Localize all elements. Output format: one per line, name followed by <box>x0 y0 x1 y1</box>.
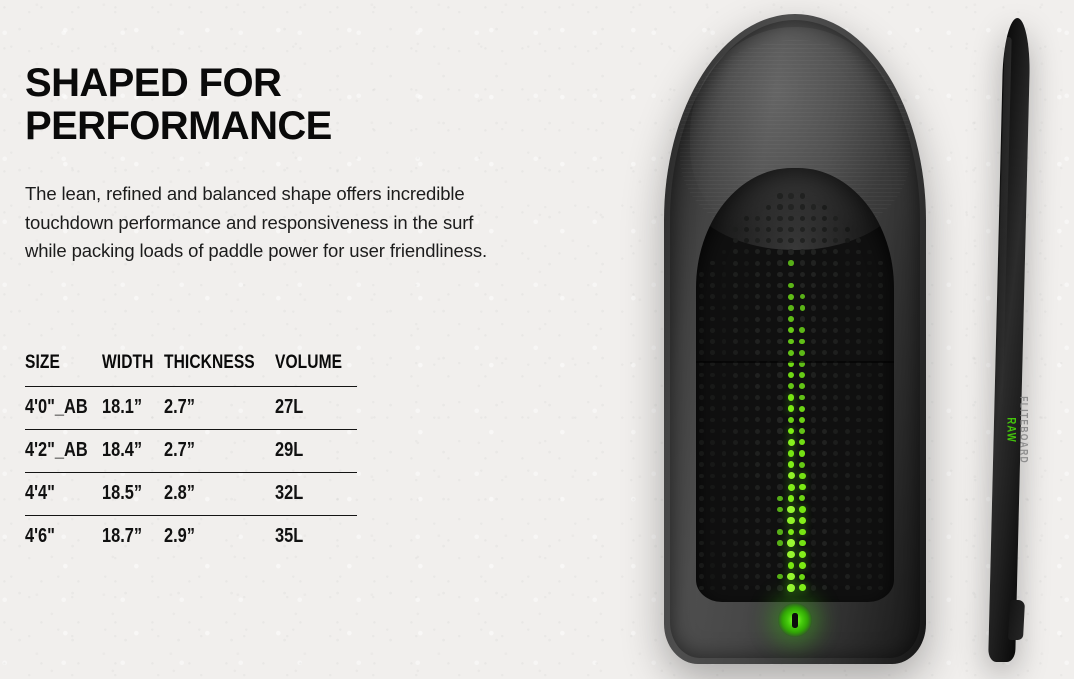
deck-pad-dot <box>799 327 805 333</box>
deck-pad-dot <box>733 305 738 310</box>
deck-pad-dot <box>788 350 794 356</box>
spec-table-element: SIZE WIDTH THICKNESS VOLUME 4'0"_AB 18.1… <box>25 352 357 558</box>
deck-pad-dot <box>777 283 782 288</box>
deck-pad-dot <box>744 496 749 501</box>
deck-pad-dot <box>710 507 715 512</box>
page-title-line-1: SHAPED FOR <box>25 62 495 105</box>
cell-volume: 27L <box>275 387 342 430</box>
table-row: 4'6" 18.7” 2.9” 35L <box>25 516 357 559</box>
deck-pad-dot <box>722 552 727 557</box>
spec-table-header-row: SIZE WIDTH THICKNESS VOLUME <box>25 352 357 387</box>
deck-pad-dot <box>733 529 738 534</box>
deck-pad-dot <box>799 540 805 546</box>
deck-pad-dot <box>733 384 738 389</box>
deck-pad-dot <box>755 563 760 568</box>
deck-pad-dot <box>867 328 872 333</box>
deck-pad-dot <box>699 395 703 399</box>
deck-pad-dot <box>856 238 861 243</box>
deck-pad-dot <box>845 305 850 310</box>
deck-pad-dot <box>722 384 727 389</box>
deck-pad-dot <box>799 428 805 434</box>
deck-pad-dot <box>733 395 738 400</box>
deck-pad-dot <box>800 272 805 277</box>
deck-pad-dot <box>699 474 703 478</box>
deck-pad-dot <box>845 238 850 243</box>
deck-pad-dot <box>833 574 838 579</box>
deck-pad-dot <box>800 260 805 265</box>
deck-pad-dot <box>699 373 703 377</box>
deck-pad-dot <box>833 552 838 557</box>
deck-pad-dot <box>722 451 727 456</box>
deck-pad-dot <box>766 563 771 568</box>
deck-pad-dot <box>833 305 838 310</box>
deck-pad-dot <box>878 328 883 333</box>
deck-pad-dot <box>822 261 827 266</box>
deck-pad-dot <box>722 518 727 523</box>
deck-pad-dot <box>710 317 715 322</box>
deck-pad-dot <box>710 530 715 535</box>
deck-pad-dot <box>845 451 850 456</box>
deck-pad-dot <box>722 395 727 400</box>
deck-pad-dot <box>788 428 795 435</box>
deck-pad-dot <box>755 552 760 557</box>
deck-pad-dot <box>822 283 827 288</box>
deck-pad-dot <box>822 496 827 501</box>
deck-pad-dot <box>699 574 703 578</box>
deck-pad-dot <box>744 261 749 266</box>
deck-pad-dot <box>833 507 838 512</box>
deck-pad-dot <box>710 306 715 311</box>
tail-indicator-light <box>778 603 812 637</box>
deck-pad-dot <box>744 552 749 557</box>
deck-pad-dot <box>777 305 782 310</box>
deck-pad-dot <box>845 563 850 568</box>
column-header-size: SIZE <box>25 352 88 387</box>
deck-pad-dot <box>845 406 850 411</box>
deck-pad-dot <box>787 517 794 524</box>
deck-pad-dot <box>699 306 703 310</box>
deck-pad-dot <box>744 350 749 355</box>
deck-pad-dot <box>766 473 771 478</box>
deck-pad-dot <box>699 530 703 534</box>
cell-size: 4'6" <box>25 516 88 559</box>
deck-pad-dot <box>856 384 861 389</box>
deck-pad-dot <box>733 429 738 434</box>
deck-pad-dot <box>766 350 771 355</box>
deck-pad-dot <box>822 238 827 243</box>
deck-pad-dot <box>878 272 883 277</box>
deck-pad-dot <box>878 406 883 411</box>
deck-pad-dot <box>845 541 850 546</box>
deck-pad-dot <box>766 406 771 411</box>
deck-pad-dot <box>777 294 782 299</box>
deck-pad-dot <box>744 541 749 546</box>
deck-pad-dot <box>788 529 795 536</box>
deck-pad-dot <box>699 317 703 321</box>
board-side-fin <box>1008 600 1025 640</box>
deck-pad-dot <box>766 216 771 221</box>
deck-pad-dot <box>777 529 782 534</box>
deck-pad-dot <box>755 294 760 299</box>
deck-pad-dot <box>833 361 838 366</box>
deck-pad-dot <box>833 238 838 243</box>
deck-pad-dot <box>766 205 771 210</box>
deck-pad-dot <box>867 339 872 344</box>
deck-pad-dot <box>822 350 827 355</box>
deck-pad-dot <box>833 261 838 266</box>
deck-pad-dot <box>788 294 794 300</box>
deck-pad-dot <box>788 260 793 265</box>
deck-pad-dot <box>800 204 805 209</box>
deck-pad-dot <box>845 585 850 590</box>
deck-pad-dot <box>822 518 827 523</box>
deck-pad-dot <box>744 339 749 344</box>
deck-pad-dot <box>699 518 703 522</box>
deck-pad-dot <box>845 384 850 389</box>
deck-pad-dot <box>833 440 838 445</box>
deck-pad-dot <box>788 249 793 254</box>
deck-pad-dot <box>744 440 749 445</box>
column-header-volume: VOLUME <box>275 352 342 387</box>
deck-pad-dot <box>856 429 861 434</box>
deck-pad-dot <box>722 485 727 490</box>
cell-width: 18.7” <box>102 516 153 559</box>
deck-pad-dot <box>856 350 861 355</box>
deck-pad-dot <box>878 317 883 322</box>
deck-pad-dot <box>755 440 760 445</box>
deck-pad-dot <box>722 440 727 445</box>
deck-pad-dot <box>878 350 883 355</box>
deck-pad-dot <box>845 574 850 579</box>
deck-pad-dot <box>856 328 861 333</box>
deck-pad-dot <box>811 563 816 568</box>
page-title-line-2: PERFORMANCE <box>25 105 495 148</box>
deck-pad-dot <box>822 574 827 579</box>
deck-pad-dot <box>878 339 883 344</box>
deck-pad-dot <box>822 249 827 254</box>
deck-pad-dot <box>867 317 872 322</box>
deck-pad-dot <box>788 439 795 446</box>
deck-pad-dot <box>867 261 872 266</box>
deck-pad-dot <box>766 305 771 310</box>
deck-pad-dot <box>755 305 760 310</box>
deck-pad-dot <box>777 216 782 221</box>
deck-pad-dot <box>833 272 838 277</box>
deck-pad-dot <box>856 541 861 546</box>
deck-pad-dot <box>822 462 827 467</box>
deck-pad-dot <box>811 305 816 310</box>
deck-pad-dot <box>811 361 816 366</box>
deck-pad-dot <box>733 339 738 344</box>
deck-pad-dot <box>867 462 872 467</box>
deck-pad-dot <box>744 485 749 490</box>
deck-pad-dot <box>699 541 703 545</box>
deck-pad-dot <box>833 294 838 299</box>
deck-pad-dot <box>867 418 872 423</box>
deck-pad-dot <box>822 440 827 445</box>
deck-pad-dot <box>799 395 805 401</box>
board-side-outline <box>988 18 1031 662</box>
deck-pad-dot <box>788 339 794 345</box>
deck-pad-dot <box>755 249 760 254</box>
deck-pad-dot <box>766 440 771 445</box>
deck-pad-dot <box>799 495 805 501</box>
deck-pad-dot <box>766 541 771 546</box>
deck-pad-dot <box>722 563 727 568</box>
deck-pad-dot <box>766 552 771 557</box>
deck-pad-dot <box>755 473 760 478</box>
deck-pad-dot <box>755 283 760 288</box>
deck-pad-dot <box>710 373 715 378</box>
deck-pad-dot <box>733 249 738 254</box>
cell-thickness: 2.7” <box>164 387 255 430</box>
deck-pad-dot <box>799 361 805 367</box>
deck-pad-dot <box>867 250 872 255</box>
deck-pad-dot <box>766 361 771 366</box>
deck-pad-dot <box>799 350 805 356</box>
deck-pad-dot <box>710 586 715 591</box>
deck-pad-dot <box>833 485 838 490</box>
deck-pad-dot <box>733 451 738 456</box>
deck-pad-dot <box>867 474 872 479</box>
deck-pad-dot <box>811 328 816 333</box>
deck-pad-dot <box>777 204 782 209</box>
deck-pad-dot <box>744 328 749 333</box>
deck-pad-dot <box>699 362 703 366</box>
deck-pad-dot <box>811 339 816 344</box>
board-side-view-image: FLITEBOARD RAW <box>988 18 1032 662</box>
deck-pad-dot <box>733 294 738 299</box>
deck-pad-dot <box>867 496 872 501</box>
deck-pad-dot <box>822 373 827 378</box>
deck-pad-dot <box>699 406 703 410</box>
deck-pad-dot <box>755 395 760 400</box>
deck-pad-dot <box>699 328 703 332</box>
deck-pad-dot <box>755 373 760 378</box>
deck-pad-dot <box>722 328 727 333</box>
deck-pad-dot <box>867 563 872 568</box>
deck-pad-dot <box>800 305 806 311</box>
deck-pad-dot <box>733 227 738 232</box>
deck-pad-dot <box>799 406 805 412</box>
deck-pad-dot <box>822 541 827 546</box>
deck-pad-dot <box>822 417 827 422</box>
deck-pad-dot <box>755 485 760 490</box>
deck-pad-dot <box>867 384 872 389</box>
cell-volume: 35L <box>275 516 342 559</box>
deck-pad-dot <box>800 238 805 243</box>
deck-pad-dot <box>777 428 782 433</box>
deck-pad-dot <box>811 216 816 221</box>
deck-pad-dot <box>744 585 749 590</box>
deck-pad-dot <box>744 563 749 568</box>
deck-pad-dot <box>755 339 760 344</box>
deck-pad-dot <box>822 227 827 232</box>
deck-pad-dot <box>733 361 738 366</box>
deck-pad-dot <box>822 317 827 322</box>
deck-pad-dot <box>856 507 861 512</box>
deck-pad-dot <box>799 562 806 569</box>
deck-pad-dot <box>833 417 838 422</box>
deck-pad-dot <box>822 563 827 568</box>
deck-pad-dot <box>856 317 861 322</box>
deck-pad-dot <box>787 551 794 558</box>
deck-pad-dot <box>878 507 883 512</box>
deck-pad-dot <box>856 474 861 479</box>
deck-pad-dot <box>833 406 838 411</box>
deck-pad-dot <box>856 373 861 378</box>
deck-pad-dot <box>867 440 872 445</box>
deck-pad-dot <box>811 462 816 467</box>
deck-pad-dot <box>822 507 827 512</box>
deck-pad-dot <box>822 339 827 344</box>
deck-pad-dot <box>777 339 782 344</box>
deck-pad-dot <box>788 405 795 412</box>
deck-pad-dot <box>867 283 872 288</box>
deck-pad-dot <box>722 586 727 591</box>
deck-pad-dot <box>733 585 738 590</box>
deck-pad-dot <box>788 272 793 277</box>
deck-pad-dot <box>766 485 771 490</box>
deck-pad-dot <box>811 552 816 557</box>
deck-pad-dot <box>722 574 727 579</box>
deck-pad-dot <box>699 552 703 556</box>
deck-pad-dot <box>722 306 727 311</box>
deck-pad-dot <box>845 552 850 557</box>
deck-pad-dot <box>710 496 715 501</box>
deck-pad-dot <box>867 373 872 378</box>
deck-pad-dot <box>799 517 806 524</box>
deck-pad-dot <box>833 216 838 221</box>
deck-pad-dot <box>777 361 782 366</box>
deck-pad-dot <box>833 496 838 501</box>
deck-pad-dot <box>811 384 816 389</box>
deck-pad-dot <box>867 451 872 456</box>
deck-pad-dot <box>777 328 782 333</box>
deck-pad-dot <box>833 339 838 344</box>
deck-pad-dot <box>867 429 872 434</box>
deck-pad-dot <box>799 417 805 423</box>
deck-pad-dot <box>799 584 806 591</box>
deck-pad-dot <box>811 395 816 400</box>
deck-pad-dot <box>777 249 782 254</box>
deck-pad-dot <box>833 473 838 478</box>
cell-width: 18.5” <box>102 473 153 516</box>
deck-pad-dot <box>777 372 782 377</box>
deck-pad-dot <box>710 552 715 557</box>
page-title: SHAPED FOR PERFORMANCE <box>25 62 495 148</box>
deck-pad-dot <box>744 361 749 366</box>
deck-pad-dot <box>788 283 794 289</box>
deck-pad-dot <box>811 529 816 534</box>
deck-pad-dot <box>878 586 883 591</box>
deck-pad-dot <box>766 294 771 299</box>
deck-pad-dot <box>710 328 715 333</box>
deck-pad-dot <box>755 272 760 277</box>
deck-pad-dot <box>766 496 771 501</box>
deck-pad-dot <box>878 552 883 557</box>
deck-pad-dot <box>811 496 816 501</box>
deck-pad-dot <box>722 261 727 266</box>
deck-pad-dot <box>833 451 838 456</box>
deck-pad-dot <box>710 574 715 579</box>
deck-pad-dot <box>777 417 782 422</box>
deck-pad-dot <box>867 541 872 546</box>
deck-pad-dot <box>777 507 782 512</box>
deck-pad-dot <box>811 316 816 321</box>
deck-pad-dot <box>710 406 715 411</box>
deck-pad-dot <box>733 518 738 523</box>
deck-pad-dot <box>856 496 861 501</box>
deck-pad-dot <box>822 473 827 478</box>
deck-pad-dot <box>710 294 715 299</box>
deck-pad-dot <box>744 272 749 277</box>
deck-pad-dot <box>856 306 861 311</box>
deck-pad-dot <box>755 451 760 456</box>
deck-pad-dot <box>822 361 827 366</box>
deck-pad-dot <box>777 462 782 467</box>
deck-pad-dot <box>733 406 738 411</box>
deck-pad-dot <box>710 283 715 288</box>
deck-pad-dot <box>845 261 850 266</box>
deck-pad-dot <box>777 552 782 557</box>
spec-table: SIZE WIDTH THICKNESS VOLUME 4'0"_AB 18.1… <box>25 352 355 558</box>
deck-pad-dot <box>733 350 738 355</box>
deck-pad-dot <box>699 451 703 455</box>
deck-pad-dot <box>856 339 861 344</box>
deck-pad-dot <box>722 496 727 501</box>
deck-pad-dot <box>710 350 715 355</box>
deck-pad-dot <box>856 462 861 467</box>
deck-pad-dot <box>878 261 883 266</box>
deck-pad-dot <box>755 350 760 355</box>
deck-pad-dot <box>787 584 795 592</box>
deck-pad-dot <box>856 250 861 255</box>
deck-pad-dot <box>878 541 883 546</box>
deck-pad-dot <box>822 429 827 434</box>
deck-pad-dot <box>878 283 883 288</box>
deck-pad-dot <box>800 193 805 198</box>
cell-volume: 29L <box>275 430 342 473</box>
deck-pad-dot <box>755 216 760 221</box>
deck-pad-dot <box>766 339 771 344</box>
deck-pad-dot <box>856 418 861 423</box>
deck-pad-dot <box>811 518 816 523</box>
deck-pad-dot <box>867 350 872 355</box>
deck-pad-dot <box>755 541 760 546</box>
deck-pad-dot <box>777 440 782 445</box>
deck-pad-dot <box>833 541 838 546</box>
deck-pad-dot <box>799 551 806 558</box>
deck-pad-dot <box>845 518 850 523</box>
deck-pad-dot <box>867 294 872 299</box>
deck-pad-dot <box>722 462 727 467</box>
deck-pad-dot <box>710 272 715 277</box>
deck-pad-dot <box>878 306 883 311</box>
deck-pad-dot <box>845 373 850 378</box>
deck-pad-dot <box>710 362 715 367</box>
deck-pad-dot <box>788 204 793 209</box>
deck-pad-dot <box>777 227 782 232</box>
deck-pad-dot <box>744 283 749 288</box>
deck-pad-dot <box>878 373 883 378</box>
deck-pad-dot <box>799 574 805 580</box>
deck-pad-dot <box>733 462 738 467</box>
deck-pad-dot <box>788 394 794 400</box>
deck-pad-dot <box>856 261 861 266</box>
deck-pad-dot <box>744 227 749 232</box>
deck-pad-dot <box>811 406 816 411</box>
